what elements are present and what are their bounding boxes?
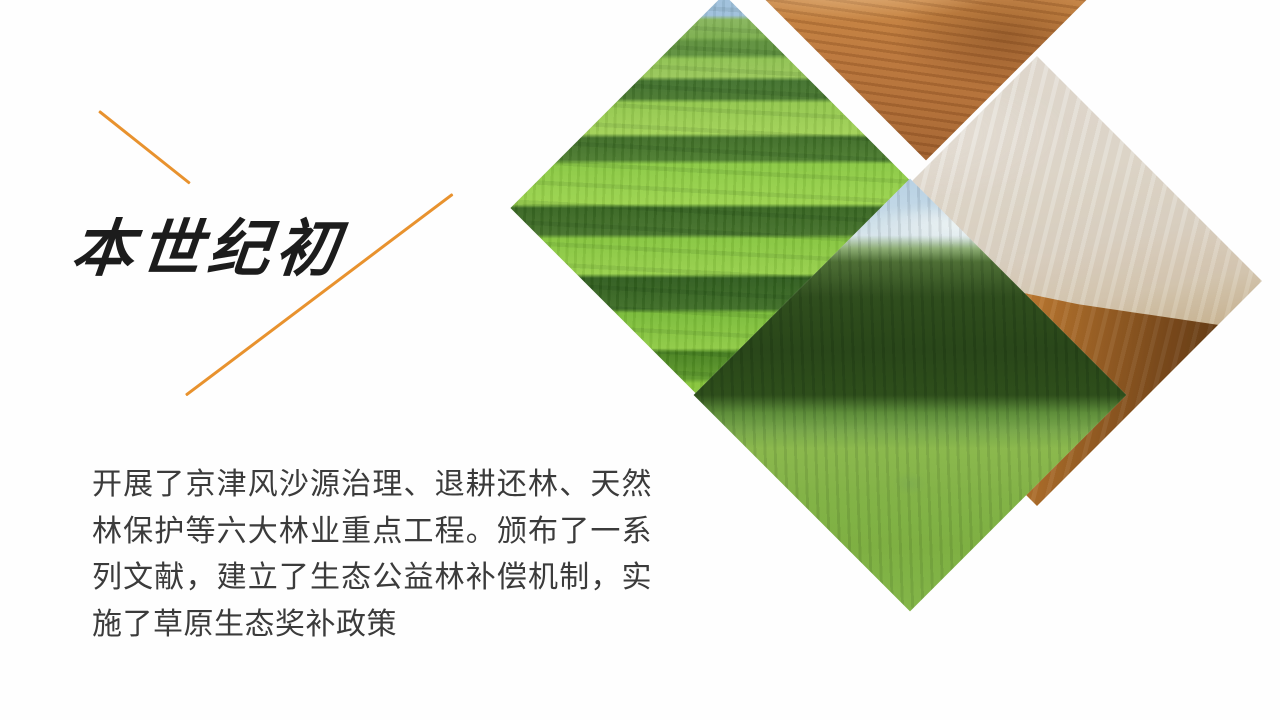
left-content-column: 本世纪初 开展了京津风沙源治理、退耕还林、天然林保护等六大林业重点工程。颁布了一… [0, 0, 575, 720]
accent-line-top-icon [98, 110, 191, 185]
page-title: 本世纪初 [69, 218, 348, 280]
photo-collage [540, 0, 1280, 720]
slide: 本世纪初 开展了京津风沙源治理、退耕还林、天然林保护等六大林业重点工程。颁布了一… [0, 0, 1280, 720]
